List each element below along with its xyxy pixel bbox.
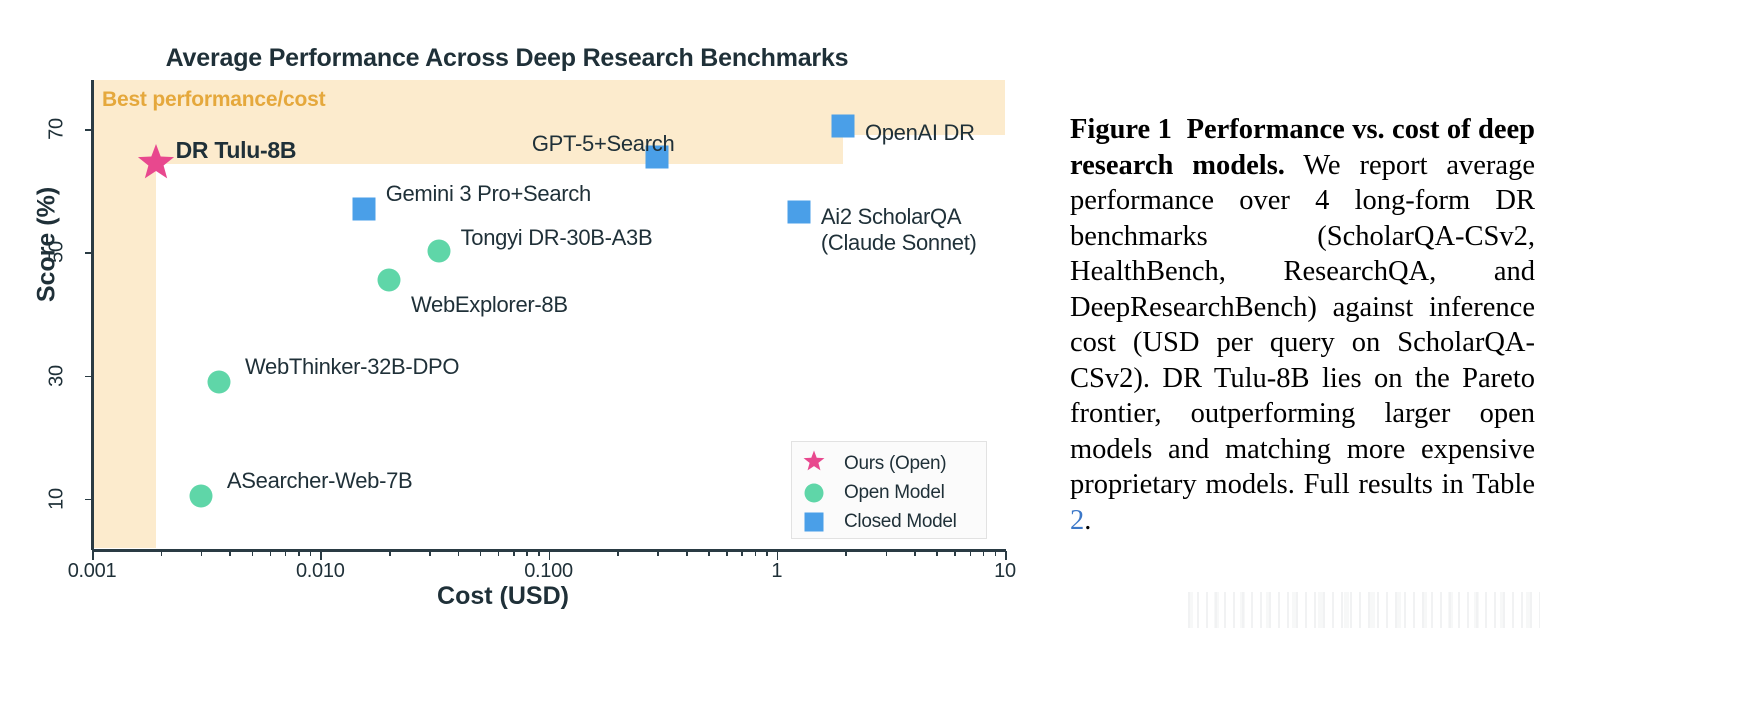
x-minor-tick — [886, 551, 888, 556]
data-point-label: ASearcher-Web-7B — [227, 468, 413, 493]
caption-table-link[interactable]: 2 — [1070, 505, 1084, 536]
x-minor-tick — [270, 551, 272, 556]
legend-item-circle[interactable]: Open Model — [792, 478, 988, 507]
x-minor-tick — [298, 551, 300, 556]
data-point-circle[interactable] — [377, 269, 400, 292]
legend-marker-star-icon — [803, 450, 825, 477]
x-minor-tick — [480, 551, 482, 556]
x-minor-tick — [161, 551, 163, 556]
legend-label: Closed Model — [844, 511, 957, 533]
x-minor-tick — [970, 551, 972, 556]
x-minor-tick — [755, 551, 757, 556]
x-minor-tick — [310, 551, 312, 556]
x-minor-tick — [285, 551, 287, 556]
y-tick-label: 70 — [45, 118, 68, 140]
chart-legend: Ours (Open)Open ModelClosed Model — [791, 441, 987, 539]
x-minor-tick — [686, 551, 688, 556]
x-major-tick — [92, 551, 94, 560]
x-major-tick — [1005, 551, 1007, 560]
data-point-label: Tongyi DR-30B-A3B — [461, 225, 653, 250]
x-minor-tick — [498, 551, 500, 556]
x-tick-label: 0.100 — [524, 560, 573, 583]
data-point-circle[interactable] — [189, 484, 212, 507]
x-minor-tick — [983, 551, 985, 556]
x-minor-tick — [936, 551, 938, 556]
x-minor-tick — [995, 551, 997, 556]
x-axis-title: Cost (USD) — [0, 582, 1006, 611]
x-minor-tick — [617, 551, 619, 556]
chart-title: Average Performance Across Deep Research… — [0, 44, 1027, 73]
x-minor-tick — [458, 551, 460, 556]
x-minor-tick — [252, 551, 254, 556]
x-minor-tick — [526, 551, 528, 556]
y-major-tick — [85, 129, 92, 131]
legend-item-square[interactable]: Closed Model — [792, 507, 988, 536]
data-point-label: DR Tulu-8B — [176, 137, 297, 163]
pareto-shade-step — [92, 164, 156, 548]
y-tick-label: 30 — [45, 365, 68, 387]
data-point-label: WebExplorer-8B — [411, 292, 568, 317]
y-axis-line — [91, 80, 94, 550]
x-minor-tick — [914, 551, 916, 556]
legend-label: Open Model — [844, 482, 945, 504]
y-axis-title: Score (%) — [33, 145, 62, 345]
caption-body-1: We report average performance over 4 lon… — [1070, 150, 1535, 501]
y-major-tick — [85, 499, 92, 501]
x-minor-tick — [708, 551, 710, 556]
data-point-square[interactable] — [352, 198, 375, 221]
data-point-circle[interactable] — [427, 240, 450, 263]
legend-label: Ours (Open) — [844, 453, 946, 475]
x-major-tick — [549, 551, 551, 560]
x-tick-label: 1 — [771, 560, 782, 583]
x-tick-label: 0.010 — [296, 560, 345, 583]
x-minor-tick — [741, 551, 743, 556]
y-tick-label: 10 — [45, 488, 68, 510]
data-point-square[interactable] — [787, 201, 810, 224]
x-minor-tick — [429, 551, 431, 556]
y-major-tick — [85, 252, 92, 254]
data-point-label: WebThinker-32B-DPO — [245, 354, 459, 379]
caption-body-2: . — [1084, 505, 1091, 536]
data-point-star[interactable] — [137, 144, 175, 182]
data-point-label: GPT-5+Search — [532, 131, 675, 156]
x-minor-tick — [845, 551, 847, 556]
x-minor-tick — [657, 551, 659, 556]
figure-caption: Figure 1 Performance vs. cost of deep re… — [1070, 112, 1535, 538]
x-minor-tick — [229, 551, 231, 556]
x-minor-tick — [201, 551, 203, 556]
scatter-figure: Average Performance Across Deep Research… — [0, 0, 1040, 714]
data-point-label: Gemini 3 Pro+Search — [386, 181, 591, 206]
x-tick-label: 10 — [994, 560, 1016, 583]
x-minor-tick — [766, 551, 768, 556]
x-major-tick — [320, 551, 322, 560]
x-minor-tick — [726, 551, 728, 556]
x-minor-tick — [538, 551, 540, 556]
figure-page: Average Performance Across Deep Research… — [0, 0, 1750, 714]
x-tick-label: 0.001 — [68, 560, 117, 583]
scan-artifact — [1188, 592, 1540, 628]
y-major-tick — [85, 376, 92, 378]
x-minor-tick — [389, 551, 391, 556]
data-point-label: OpenAI DR — [865, 120, 975, 145]
x-minor-tick — [513, 551, 515, 556]
caption-figure-number: Figure 1 — [1070, 114, 1172, 145]
pareto-annotation: Best performance/cost — [102, 88, 325, 112]
data-point-label: Ai2 ScholarQA(Claude Sonnet) — [821, 204, 977, 255]
legend-marker-circle-icon — [805, 483, 824, 502]
legend-item-star[interactable]: Ours (Open) — [792, 449, 988, 478]
data-point-circle[interactable] — [207, 370, 230, 393]
data-point-square[interactable] — [831, 115, 854, 138]
legend-marker-square-icon — [805, 512, 824, 531]
x-minor-tick — [954, 551, 956, 556]
x-major-tick — [777, 551, 779, 560]
